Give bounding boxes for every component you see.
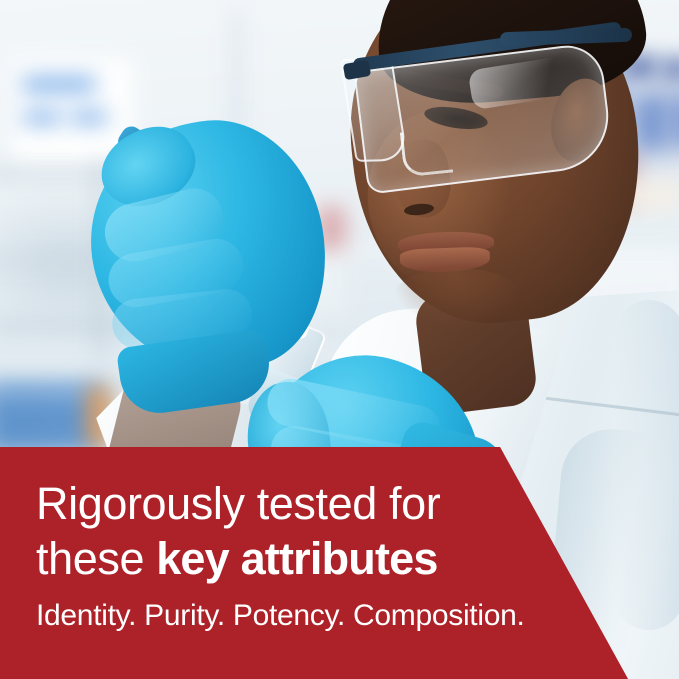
background-bottle-cap — [664, 60, 679, 77]
chin — [392, 268, 522, 328]
background-label-strip — [70, 112, 108, 123]
background-reagent-bottle — [672, 96, 679, 148]
background-label-strip — [22, 112, 62, 123]
banner-text-block: Rigorously tested for these key attribut… — [36, 476, 556, 634]
safety-glasses-bridge — [400, 128, 453, 178]
headline-line-2-regular: these — [36, 533, 156, 584]
background-reagent-bottle — [636, 96, 666, 150]
headline-line-2-bold: key attributes — [156, 533, 437, 584]
subheadline: Identity. Purity. Potency. Composition. — [36, 598, 556, 634]
background-label-strip — [22, 78, 96, 91]
headline-line-2: these key attributes — [36, 531, 556, 586]
poster-root: Rigorously tested for these key attribut… — [0, 0, 679, 679]
headline-line-1: Rigorously tested for — [36, 476, 556, 531]
headline: Rigorously tested for these key attribut… — [36, 476, 556, 586]
